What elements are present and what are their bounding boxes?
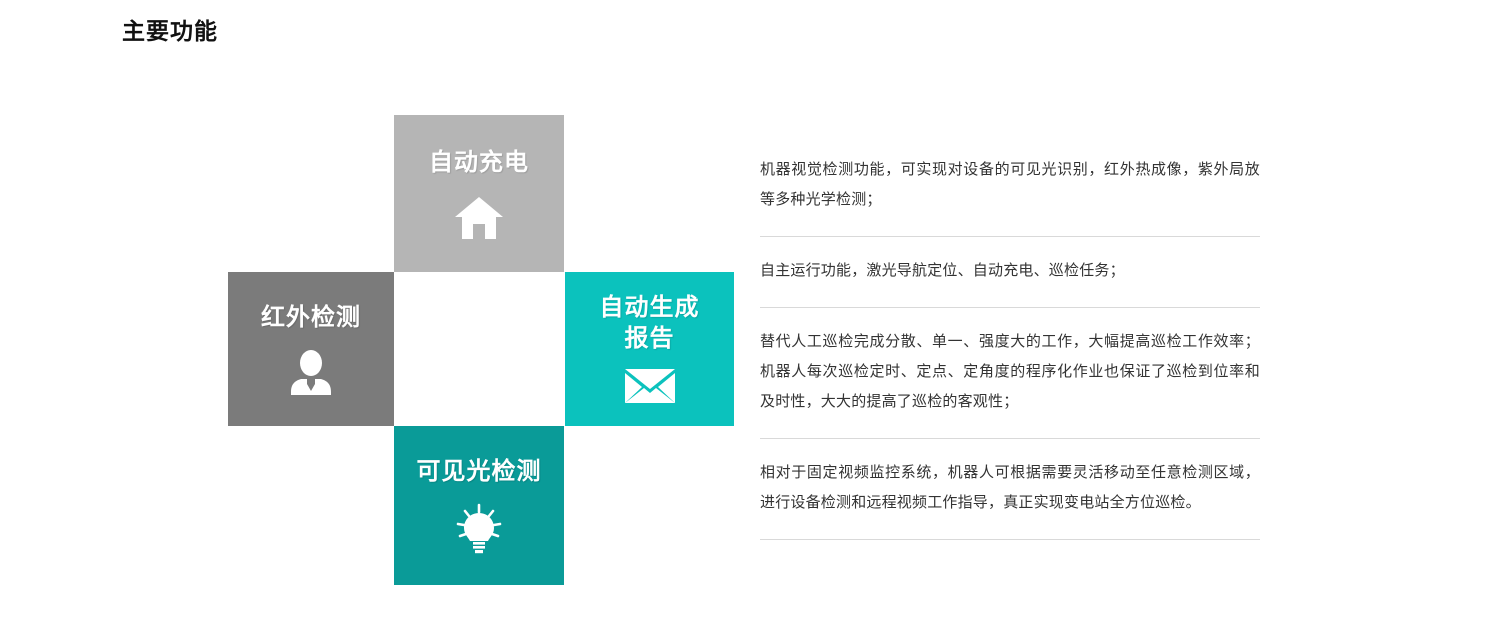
feature-tile-grid: 自动充电 红外检测 自动生成 报告 可见光检测 [228,115,734,585]
tile-auto-report[interactable]: 自动生成 报告 [565,272,734,426]
tile-infrared-detection[interactable]: 红外检测 [228,272,394,426]
tile-visible-light-detection[interactable]: 可见光检测 [394,426,564,585]
feature-item: 替代人工巡检完成分散、单一、强度大的工作，大幅提高巡检工作效率；机器人每次巡检定… [760,308,1260,439]
feature-item: 相对于固定视频监控系统，机器人可根据需要灵活移动至任意检测区域，进行设备检测和远… [760,439,1260,540]
feature-item: 自主运行功能，激光导航定位、自动充电、巡检任务； [760,237,1260,308]
lightbulb-icon [453,503,505,555]
feature-text: 自主运行功能，激光导航定位、自动充电、巡检任务； [760,255,1260,285]
person-icon [288,350,334,396]
page-title: 主要功能 [122,18,218,46]
tile-auto-charging[interactable]: 自动充电 [394,115,564,272]
feature-description-list: 机器视觉检测功能，可实现对设备的可见光识别，红外热成像，紫外局放等多种光学检测；… [760,140,1260,540]
feature-text: 替代人工巡检完成分散、单一、强度大的工作，大幅提高巡检工作效率；机器人每次巡检定… [760,326,1260,416]
feature-text: 相对于固定视频监控系统，机器人可根据需要灵活移动至任意检测区域，进行设备检测和远… [760,457,1260,517]
tile-infrared-detection-label: 红外检测 [261,302,361,334]
envelope-icon [623,367,677,405]
feature-item: 机器视觉检测功能，可实现对设备的可见光识别，红外热成像，紫外局放等多种光学检测； [760,140,1260,237]
tile-visible-light-detection-label: 可见光检测 [417,456,542,488]
home-icon [454,196,504,240]
feature-text: 机器视觉检测功能，可实现对设备的可见光识别，红外热成像，紫外局放等多种光学检测； [760,154,1260,214]
tile-auto-report-label: 自动生成 报告 [600,293,700,354]
tile-auto-charging-label: 自动充电 [429,147,529,179]
